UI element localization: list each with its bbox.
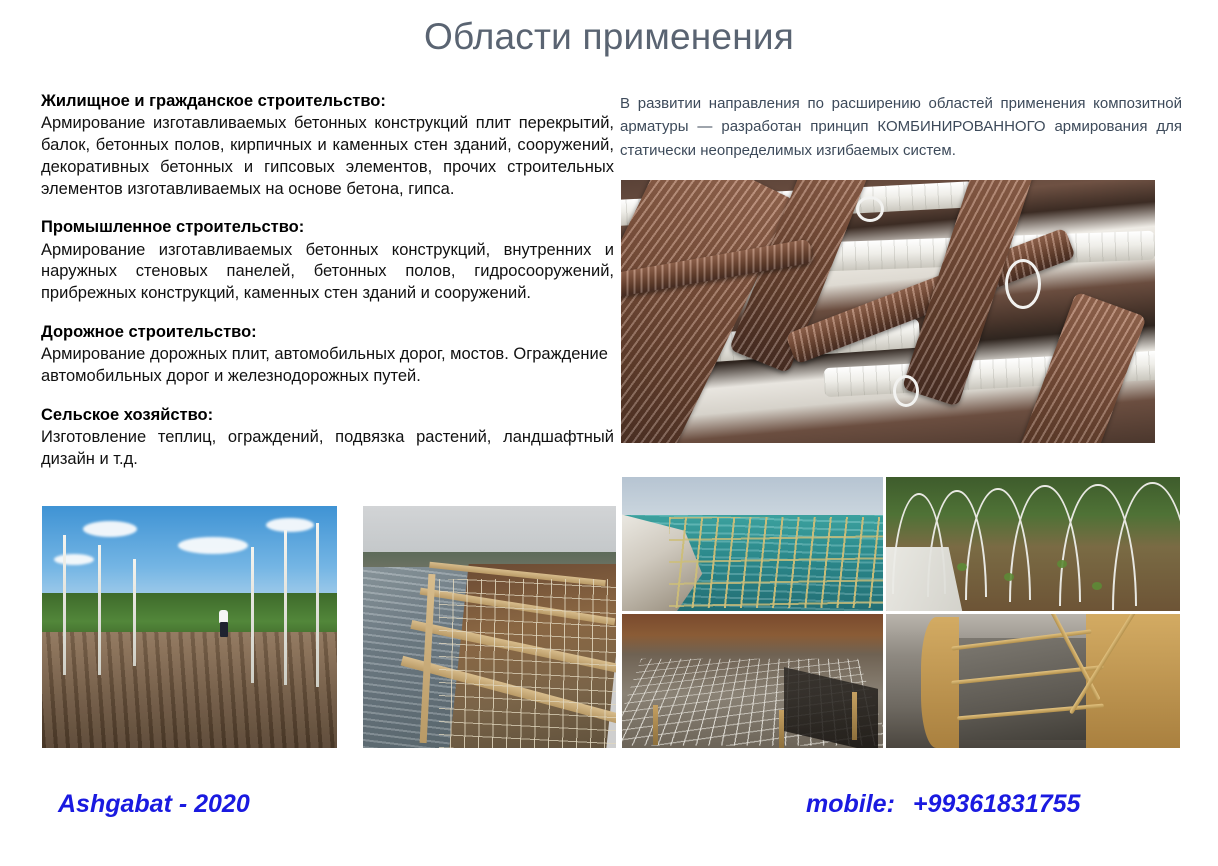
formwork-scene xyxy=(886,614,1180,748)
plant xyxy=(1092,582,1102,590)
person-shirt xyxy=(219,610,228,623)
trellis-post xyxy=(98,545,101,676)
trellis-post xyxy=(251,547,254,683)
photo-curved-formwork xyxy=(886,614,1180,748)
photo-foundation-slab-mesh xyxy=(622,614,883,748)
rebar-mesh xyxy=(439,579,616,748)
photo-coastal-rebar-cage xyxy=(622,477,883,611)
formwork-wall xyxy=(1086,614,1180,748)
section-industrial: Промышленное строительство: Армирование … xyxy=(41,216,614,305)
section-residential: Жилищное и гражданское строительство: Ар… xyxy=(41,90,614,200)
section-residential-body: Армирование изготавливаемых бетонных кон… xyxy=(41,113,614,200)
section-road: Дорожное строительство: Армирование доро… xyxy=(41,321,614,388)
left-text-column: Жилищное и гражданское строительство: Ар… xyxy=(41,90,614,470)
tie-wire xyxy=(856,196,884,222)
orchard-scene xyxy=(42,506,337,748)
footer-location-year: Ashgabat - 2020 xyxy=(58,790,250,819)
river-scene xyxy=(363,506,616,748)
trellis-post xyxy=(133,559,136,665)
soil xyxy=(42,632,337,748)
plant xyxy=(1057,560,1067,568)
rebar-scene xyxy=(621,180,1155,443)
sky xyxy=(622,477,883,517)
footer-contact: mobile:+99361831755 xyxy=(806,790,1080,819)
cloud xyxy=(83,521,137,537)
wooden-stake xyxy=(779,710,784,748)
section-agriculture-body: Изготовление теплиц, ограждений, подвязк… xyxy=(41,427,614,471)
rebar-cage xyxy=(669,517,883,608)
section-agriculture-heading: Сельское хозяйство: xyxy=(41,404,614,426)
footer-mobile-label: mobile: xyxy=(806,790,895,818)
slab-scene xyxy=(622,614,883,748)
tie-wire xyxy=(893,375,919,407)
footer-mobile-number: +99361831755 xyxy=(913,790,1081,818)
section-industrial-body: Армирование изготавливаемых бетонных кон… xyxy=(41,240,614,305)
page-title: Области применения xyxy=(0,16,1218,58)
trellis-post xyxy=(63,535,66,675)
sea-scene xyxy=(622,477,883,611)
section-residential-heading: Жилищное и гражданское строительство: xyxy=(41,90,614,112)
greenhouse-scene xyxy=(886,477,1180,611)
trellis-post xyxy=(316,523,319,688)
plant xyxy=(957,563,967,571)
section-road-body: Армирование дорожных плит, автомобильных… xyxy=(41,344,614,388)
photo-greenhouse-frames xyxy=(886,477,1180,611)
tie-wire xyxy=(1005,259,1041,309)
trellis-post xyxy=(284,530,287,685)
section-agriculture: Сельское хозяйство: Изготовление теплиц,… xyxy=(41,404,614,471)
section-industrial-heading: Промышленное строительство: xyxy=(41,216,614,238)
right-intro-paragraph: В развитии направления по расширению обл… xyxy=(620,92,1182,162)
wooden-stake xyxy=(653,705,658,745)
photo-combined-rebar xyxy=(621,180,1155,443)
wooden-stake xyxy=(852,692,857,740)
section-road-heading: Дорожное строительство: xyxy=(41,321,614,343)
photo-orchard-trellis xyxy=(42,506,337,748)
photo-riverbank-reinforcement xyxy=(363,506,616,748)
person-pants xyxy=(220,622,228,637)
